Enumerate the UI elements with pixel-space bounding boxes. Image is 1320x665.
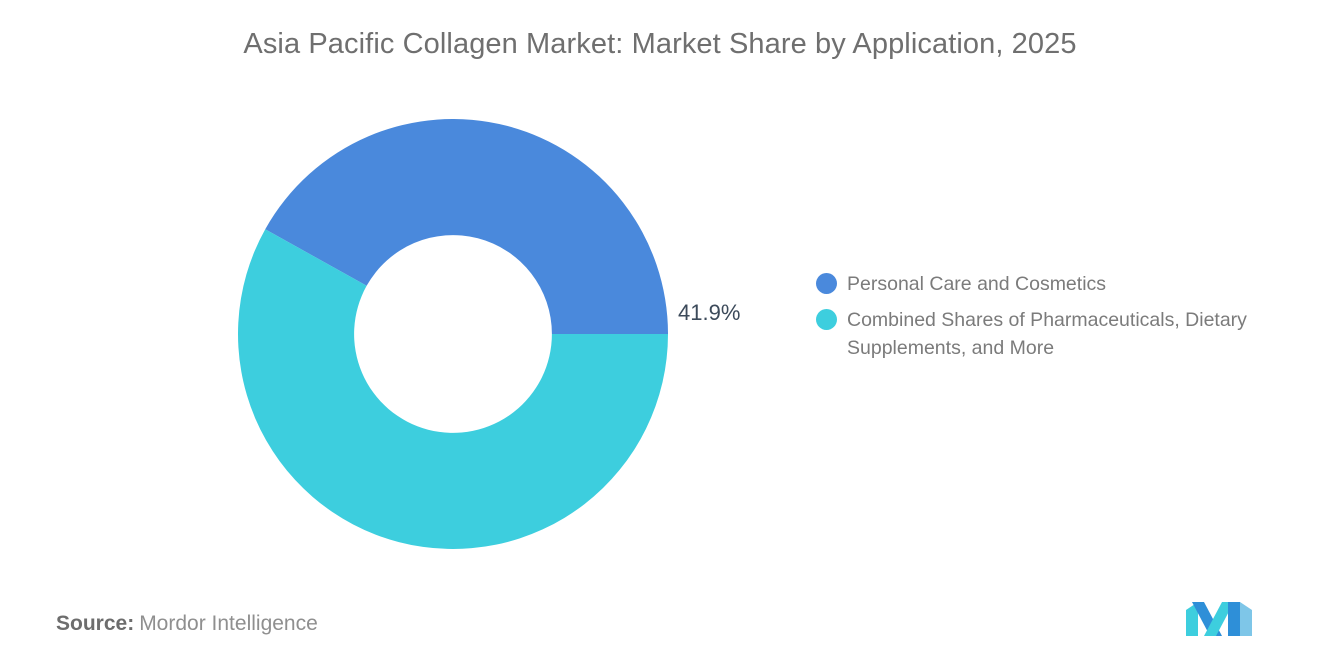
slice-value-label-personal-care: 41.9% [678,300,740,326]
legend-color-swatch-icon [816,309,837,330]
legend-item-label: Combined Shares of Pharmaceuticals, Diet… [847,306,1247,362]
legend-item-personal-care-and-cosmetics[interactable]: Personal Care and Cosmetics [816,270,1286,298]
chart-legend: Personal Care and Cosmetics Combined Sha… [816,270,1286,370]
source-prefix-label: Source: [56,612,134,635]
chart-canvas: Asia Pacific Collagen Market: Market Sha… [0,0,1320,665]
legend-item-combined-shares[interactable]: Combined Shares of Pharmaceuticals, Diet… [816,306,1286,362]
legend-item-label: Personal Care and Cosmetics [847,270,1106,298]
source-line: Source:Mordor Intelligence [56,612,318,636]
chart-title: Asia Pacific Collagen Market: Market Sha… [0,28,1320,61]
mi-monogram-icon [1186,597,1252,641]
mordor-intelligence-logo [1186,597,1252,641]
legend-color-swatch-icon [816,273,837,294]
donut-chart: 41.9% [238,119,668,549]
donut-svg [238,119,668,549]
source-value-label: Mordor Intelligence [139,612,318,635]
